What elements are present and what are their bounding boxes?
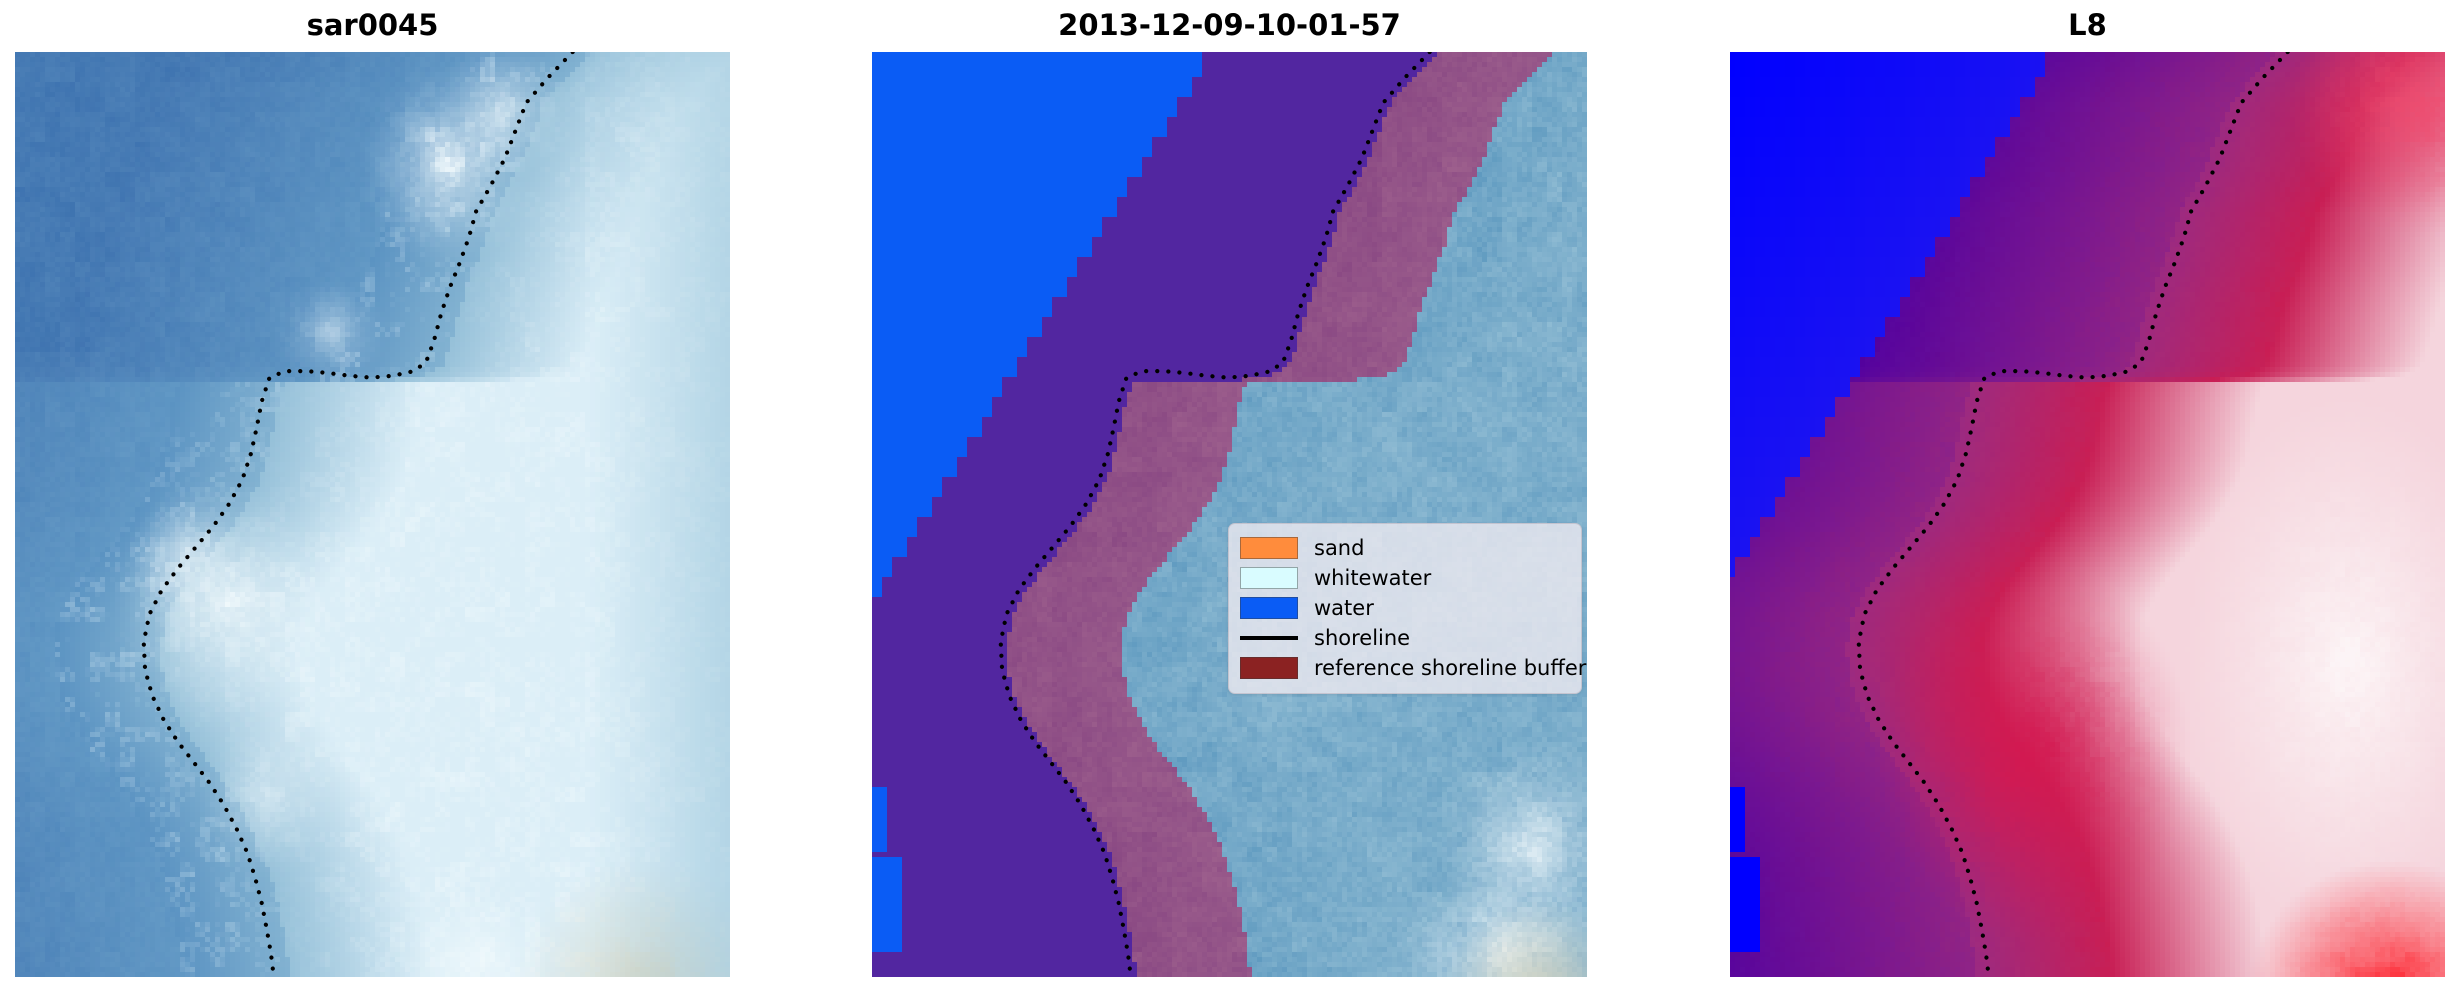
panel-title-sar: sar0045 bbox=[15, 8, 730, 42]
legend-item-shoreline: shoreline bbox=[1240, 623, 1571, 653]
legend-item-whitewater: whitewater bbox=[1240, 563, 1571, 593]
whitewater-swatch-icon bbox=[1240, 567, 1298, 589]
sand-swatch-icon bbox=[1240, 537, 1298, 559]
legend-label-water: water bbox=[1314, 596, 1374, 620]
panel-sar-image bbox=[15, 52, 730, 977]
legend-item-water: water bbox=[1240, 593, 1571, 623]
legend-label-sand: sand bbox=[1314, 536, 1364, 560]
panel-classification bbox=[872, 52, 1587, 977]
panel-l8-image bbox=[1730, 52, 2445, 977]
l8-raster bbox=[1730, 52, 2445, 977]
legend-label-whitewater: whitewater bbox=[1314, 566, 1431, 590]
reference-buffer-swatch-icon bbox=[1240, 657, 1298, 679]
legend-item-reference-buffer: reference shoreline buffer bbox=[1240, 653, 1571, 683]
legend: sand whitewater water shoreline referenc… bbox=[1228, 523, 1582, 694]
panel-title-l8: L8 bbox=[1730, 8, 2445, 42]
water-swatch-icon bbox=[1240, 597, 1298, 619]
legend-label-shoreline: shoreline bbox=[1314, 626, 1410, 650]
shoreline-line-icon bbox=[1240, 627, 1298, 649]
legend-item-sand: sand bbox=[1240, 533, 1571, 563]
sar-raster bbox=[15, 52, 730, 977]
classification-raster bbox=[872, 52, 1587, 977]
panel-title-classification: 2013-12-09-10-01-57 bbox=[872, 8, 1587, 42]
figure-root: sar0045 2013-12-09-10-01-57 L8 sand whit… bbox=[0, 0, 2460, 991]
legend-label-reference-buffer: reference shoreline buffer bbox=[1314, 656, 1586, 680]
